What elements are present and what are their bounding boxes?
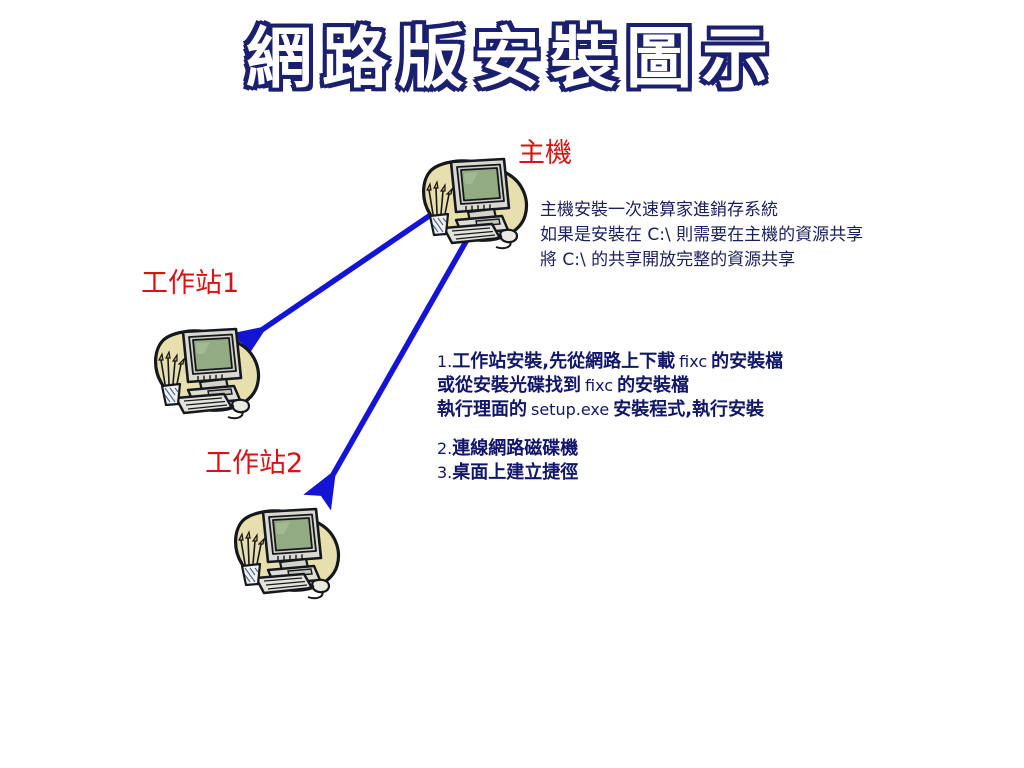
workstation-step1-line3: 執行理面的setup.exe安裝程式,執行安裝 <box>437 398 783 422</box>
workstation-steps-group2: 2.連線網路磁碟機 3.桌面上建立捷徑 <box>437 437 578 485</box>
step1-line3-part1: 執行理面的 <box>437 399 527 420</box>
step2-text: 連線網路磁碟機 <box>452 438 578 459</box>
server-notes: 主機安裝一次速算家進銷存系統 如果是安裝在 C:\ 則需要在主機的資源共享 將 … <box>540 198 863 273</box>
desktop-computer-icon <box>148 316 266 424</box>
page-title: 網路版安裝圖示 <box>0 26 1024 92</box>
step1-latin-fixc: fixc <box>675 352 711 371</box>
step1-line3-part2: 安裝程式,執行安裝 <box>613 399 764 420</box>
step2-number: 2. <box>437 439 452 458</box>
step1-line2-latin-fixc: fixc <box>581 376 617 395</box>
workstation-step3: 3.桌面上建立捷徑 <box>437 461 578 485</box>
step1-text-part2: 的安裝檔 <box>711 351 783 372</box>
step1-line2-part1: 或從安裝光碟找到 <box>437 375 581 396</box>
desktop-computer-icon <box>416 146 534 254</box>
label-server: 主機 <box>518 139 572 169</box>
step3-text: 桌面上建立捷徑 <box>452 462 578 483</box>
workstation-steps-group1: 1.工作站安裝,先從網路上下載fixc的安裝檔 或從安裝光碟找到fixc的安裝檔… <box>437 350 783 422</box>
label-workstation2: 工作站2 <box>205 449 303 479</box>
step1-text-part1: 工作站安裝,先從網路上下載 <box>452 351 675 372</box>
workstation-step1-line1: 1.工作站安裝,先從網路上下載fixc的安裝檔 <box>437 350 783 374</box>
step1-number: 1. <box>437 352 452 371</box>
step1-line2-part2: 的安裝檔 <box>617 375 689 396</box>
slide-canvas: 網路版安裝圖示 <box>0 0 1024 768</box>
desktop-computer-icon <box>228 496 346 604</box>
workstation-step2: 2.連線網路磁碟機 <box>437 437 578 461</box>
computer-icon <box>416 146 534 254</box>
server-note-line3: 將 C:\ 的共享開放完整的資源共享 <box>540 248 863 273</box>
server-note-line2: 如果是安裝在 C:\ 則需要在主機的資源共享 <box>540 223 863 248</box>
computer-icon <box>148 316 266 424</box>
arrow-server-to-workstation1 <box>244 214 432 342</box>
label-workstation1: 工作站1 <box>141 269 239 299</box>
computer-icon <box>228 496 346 604</box>
step1-line3-latin-setup: setup.exe <box>527 400 613 419</box>
server-note-line1: 主機安裝一次速算家進銷存系統 <box>540 198 863 223</box>
step3-number: 3. <box>437 463 452 482</box>
workstation-step1-line2: 或從安裝光碟找到fixc的安裝檔 <box>437 374 783 398</box>
